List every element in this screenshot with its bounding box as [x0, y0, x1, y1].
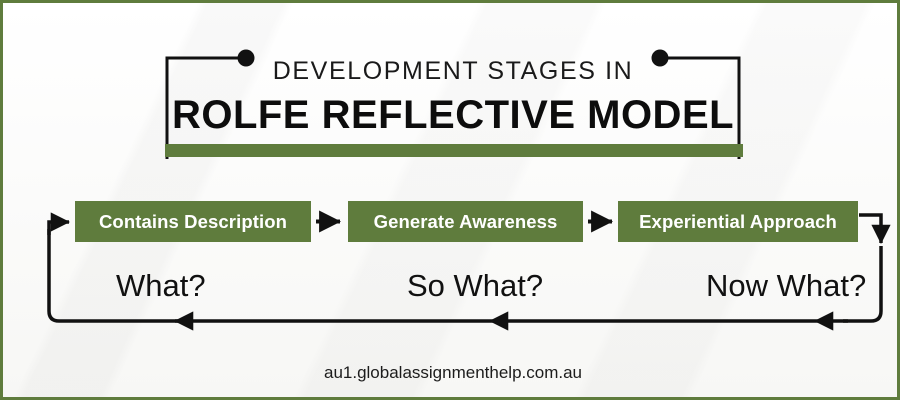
question-label-so-what: So What?: [407, 268, 543, 304]
stage-box-experiential-approach[interactable]: Experiential Approach: [618, 201, 858, 242]
title-block: DEVELOPMENT STAGES IN ROLFE REFLECTIVE M…: [165, 49, 741, 159]
rolfe-reflective-model-infographic: DEVELOPMENT STAGES IN ROLFE REFLECTIVE M…: [0, 0, 900, 400]
stage-box-contains-description[interactable]: Contains Description: [75, 201, 311, 242]
footer-website-url[interactable]: au1.globalassignmenthelp.com.au: [3, 363, 900, 383]
stage-label: Generate Awareness: [374, 211, 558, 233]
title-underline-bar: [165, 144, 743, 157]
question-label-now-what: Now What?: [706, 268, 866, 304]
question-label-what: What?: [116, 268, 206, 304]
page-title: ROLFE REFLECTIVE MODEL: [165, 93, 741, 138]
title-eyebrow: DEVELOPMENT STAGES IN: [165, 57, 741, 86]
stage-label: Contains Description: [99, 211, 287, 233]
stage-box-generate-awareness[interactable]: Generate Awareness: [348, 201, 583, 242]
stage-label: Experiential Approach: [639, 211, 837, 233]
